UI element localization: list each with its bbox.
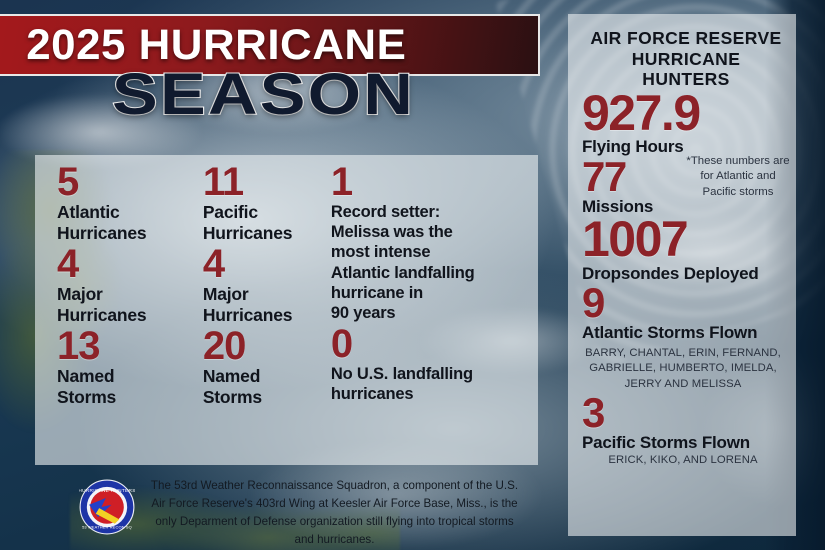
stat-value: 0: [331, 325, 528, 364]
hunters-stat-value: 1007: [582, 216, 790, 264]
hunters-stat-block: 927.9 Flying Hours: [582, 90, 790, 157]
panel-heading: AIR FORCE RESERVEHURRICANE HUNTERS: [582, 28, 790, 90]
stat-label: No U.S. landfallinghurricanes: [331, 364, 528, 404]
hunters-stat-value: 77: [582, 157, 790, 197]
stat-label: PacificHurricanes: [203, 202, 331, 243]
hunters-stat-value: 9: [582, 283, 790, 323]
title-line-1: 2025 HURRICANE: [26, 24, 406, 67]
footer-text: The 53rd Weather Reconnaissance Squadron…: [135, 473, 538, 549]
hunters-stat-block: 9 Atlantic Storms Flown BARRY, CHANTAL, …: [582, 283, 790, 392]
stat-block: 4 MajorHurricanes: [203, 245, 331, 325]
stat-block: 13 NamedStorms: [57, 327, 203, 407]
stat-value: 1: [331, 163, 528, 202]
stat-block: 1 Record setter:Melissa was themost inte…: [331, 163, 528, 323]
stat-block: 11 PacificHurricanes: [203, 163, 331, 243]
hunters-stat-value: 927.9: [582, 90, 790, 138]
stat-value: 11: [203, 163, 331, 202]
stat-value: 4: [57, 245, 203, 284]
stat-value: 13: [57, 327, 203, 366]
hunters-stat-block: 77 Missions: [582, 157, 790, 216]
stat-label: NamedStorms: [57, 366, 203, 407]
stat-value: 4: [203, 245, 331, 284]
svg-text:53 WEATHER RECON SQ: 53 WEATHER RECON SQ: [82, 524, 132, 529]
stats-column-records: 1 Record setter:Melissa was themost inte…: [331, 163, 528, 465]
hunters-stat-label: Pacific Storms Flown: [582, 433, 790, 453]
hunters-stat-label: Dropsondes Deployed: [582, 264, 790, 284]
stat-label: NamedStorms: [203, 366, 331, 407]
title-line-2: SEASON: [112, 66, 415, 124]
stat-value: 5: [57, 163, 203, 202]
stat-label: MajorHurricanes: [57, 284, 203, 325]
pacific-storm-names: ERICK, KIKO, AND LORENA: [582, 452, 790, 469]
footer-credit: HURRICANE HUNTERS 53 WEATHER RECON SQ Th…: [35, 465, 538, 550]
hurricane-hunters-panel: AIR FORCE RESERVEHURRICANE HUNTERS *Thes…: [568, 14, 796, 536]
stat-label: AtlanticHurricanes: [57, 202, 203, 243]
hunters-stat-label: Atlantic Storms Flown: [582, 323, 790, 343]
infographic-canvas: 2025 HURRICANE SEASON 5 AtlanticHurrican…: [0, 0, 825, 550]
season-stats-panel: 5 AtlanticHurricanes 4 MajorHurricanes 1…: [35, 155, 538, 465]
stat-block: 4 MajorHurricanes: [57, 245, 203, 325]
atlantic-storm-names: BARRY, CHANTAL, ERIN, FERNAND, GABRIELLE…: [582, 343, 790, 393]
hunters-stat-block: 3 Pacific Storms Flown ERICK, KIKO, AND …: [582, 393, 790, 469]
svg-text:HURRICANE HUNTERS: HURRICANE HUNTERS: [79, 488, 135, 494]
stat-label: MajorHurricanes: [203, 284, 331, 325]
stats-column-pacific: 11 PacificHurricanes 4 MajorHurricanes 2…: [203, 163, 331, 465]
squadron-patch-logo-icon: HURRICANE HUNTERS 53 WEATHER RECON SQ: [79, 479, 135, 535]
stat-block: 0 No U.S. landfallinghurricanes: [331, 325, 528, 404]
hunters-stat-block: 1007 Dropsondes Deployed: [582, 216, 790, 283]
hunters-stat-value: 3: [582, 393, 790, 433]
stats-column-atlantic: 5 AtlanticHurricanes 4 MajorHurricanes 1…: [57, 163, 203, 465]
stat-block: 5 AtlanticHurricanes: [57, 163, 203, 243]
stat-value: 20: [203, 327, 331, 366]
stat-label: Record setter:Melissa was themost intens…: [331, 202, 528, 323]
stat-block: 20 NamedStorms: [203, 327, 331, 407]
